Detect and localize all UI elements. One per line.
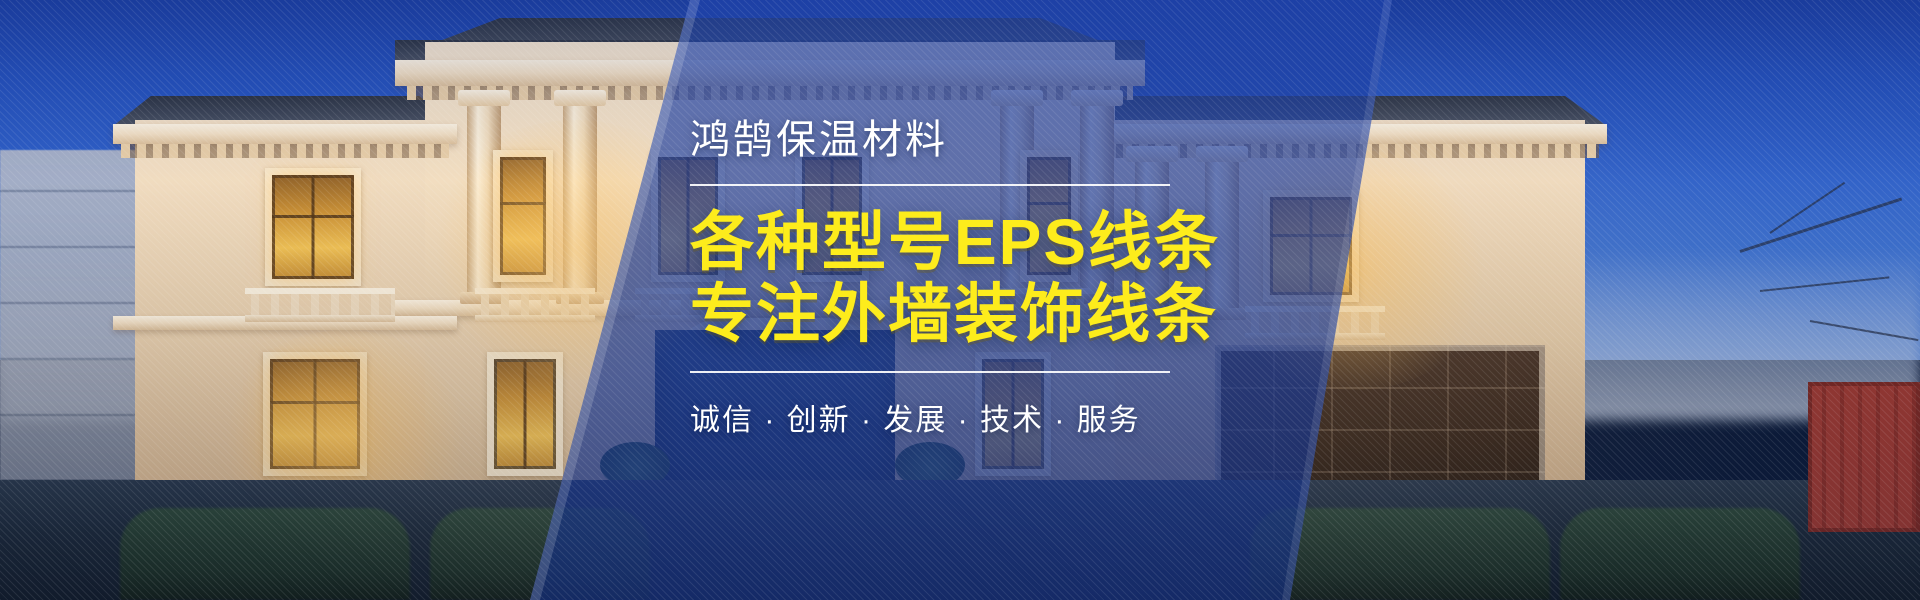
headline-line-2: 专注外墙装饰线条 xyxy=(690,278,1330,350)
tagline: 诚信 · 创新 · 发展 · 技术 · 服务 xyxy=(690,395,1330,439)
promo-banner: 鸿鹄保温材料 各种型号EPS线条 专注外墙装饰线条 诚信 · 创新 · 发展 ·… xyxy=(0,0,1920,600)
banner-content: 鸿鹄保温材料 各种型号EPS线条 专注外墙装饰线条 诚信 · 创新 · 发展 ·… xyxy=(690,118,1330,439)
divider-bottom xyxy=(690,371,1170,373)
brand-name: 鸿鹄保温材料 xyxy=(690,118,1330,162)
divider-top xyxy=(690,184,1170,186)
headline-line-1: 各种型号EPS线条 xyxy=(690,206,1330,278)
